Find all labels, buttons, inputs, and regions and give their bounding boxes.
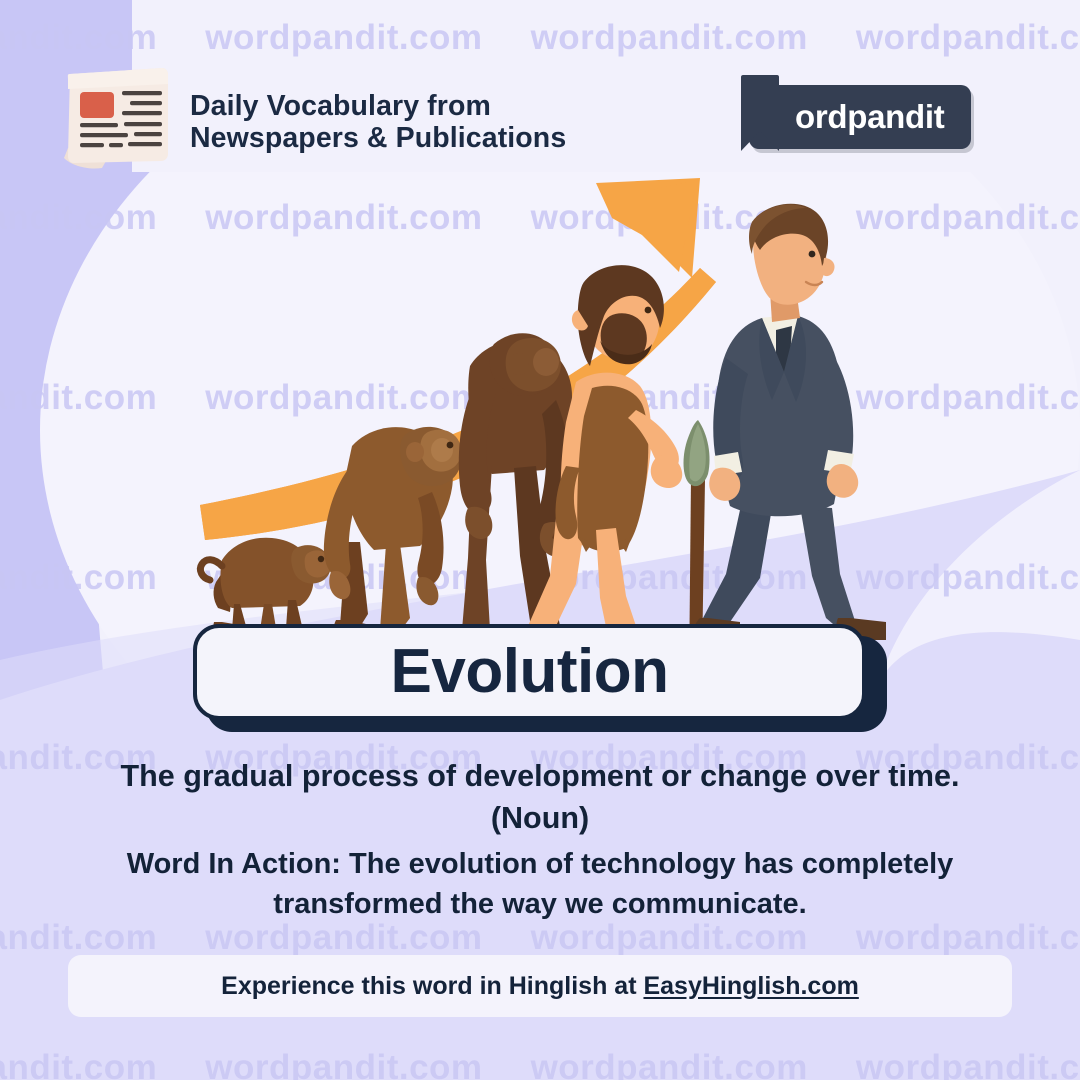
- footer-cta-bar[interactable]: Experience this word in Hinglish at Easy…: [68, 955, 1012, 1017]
- definition-block: The gradual process of development or ch…: [0, 755, 1080, 839]
- word-title: Evolution: [391, 641, 669, 703]
- newspaper-icon: [58, 62, 176, 174]
- footer-prefix: Experience this word in Hinglish at: [221, 972, 643, 1000]
- definition-text: The gradual process of development or ch…: [121, 759, 960, 793]
- header-tagline: Daily Vocabulary from Newspapers & Publi…: [190, 90, 566, 155]
- poster-canvas: wordpandit.comwordpandit.comwordpandit.c…: [0, 0, 1080, 1080]
- businessman-figure: [694, 204, 886, 640]
- ape-figure: [324, 427, 462, 644]
- logo-text: ordpandit: [795, 85, 944, 149]
- header: Daily Vocabulary from Newspapers & Publi…: [0, 0, 1080, 190]
- human-evolution-illustration: [0, 160, 1080, 660]
- footer-text: Experience this word in Hinglish at Easy…: [221, 972, 859, 1001]
- part-of-speech: (Noun): [24, 797, 1056, 839]
- wordpandit-logo[interactable]: ordpandit: [749, 85, 971, 149]
- example-sentence: Word In Action: The evolution of technol…: [0, 845, 1080, 924]
- tagline-line-1: Daily Vocabulary from: [190, 90, 566, 122]
- tagline-line-2: Newspapers & Publications: [190, 122, 566, 154]
- bookmark-w-icon: [737, 75, 783, 157]
- word-card: Evolution: [193, 624, 887, 732]
- word-card-body: Evolution: [193, 624, 866, 720]
- easyhinglish-link[interactable]: EasyHinglish.com: [643, 972, 858, 1000]
